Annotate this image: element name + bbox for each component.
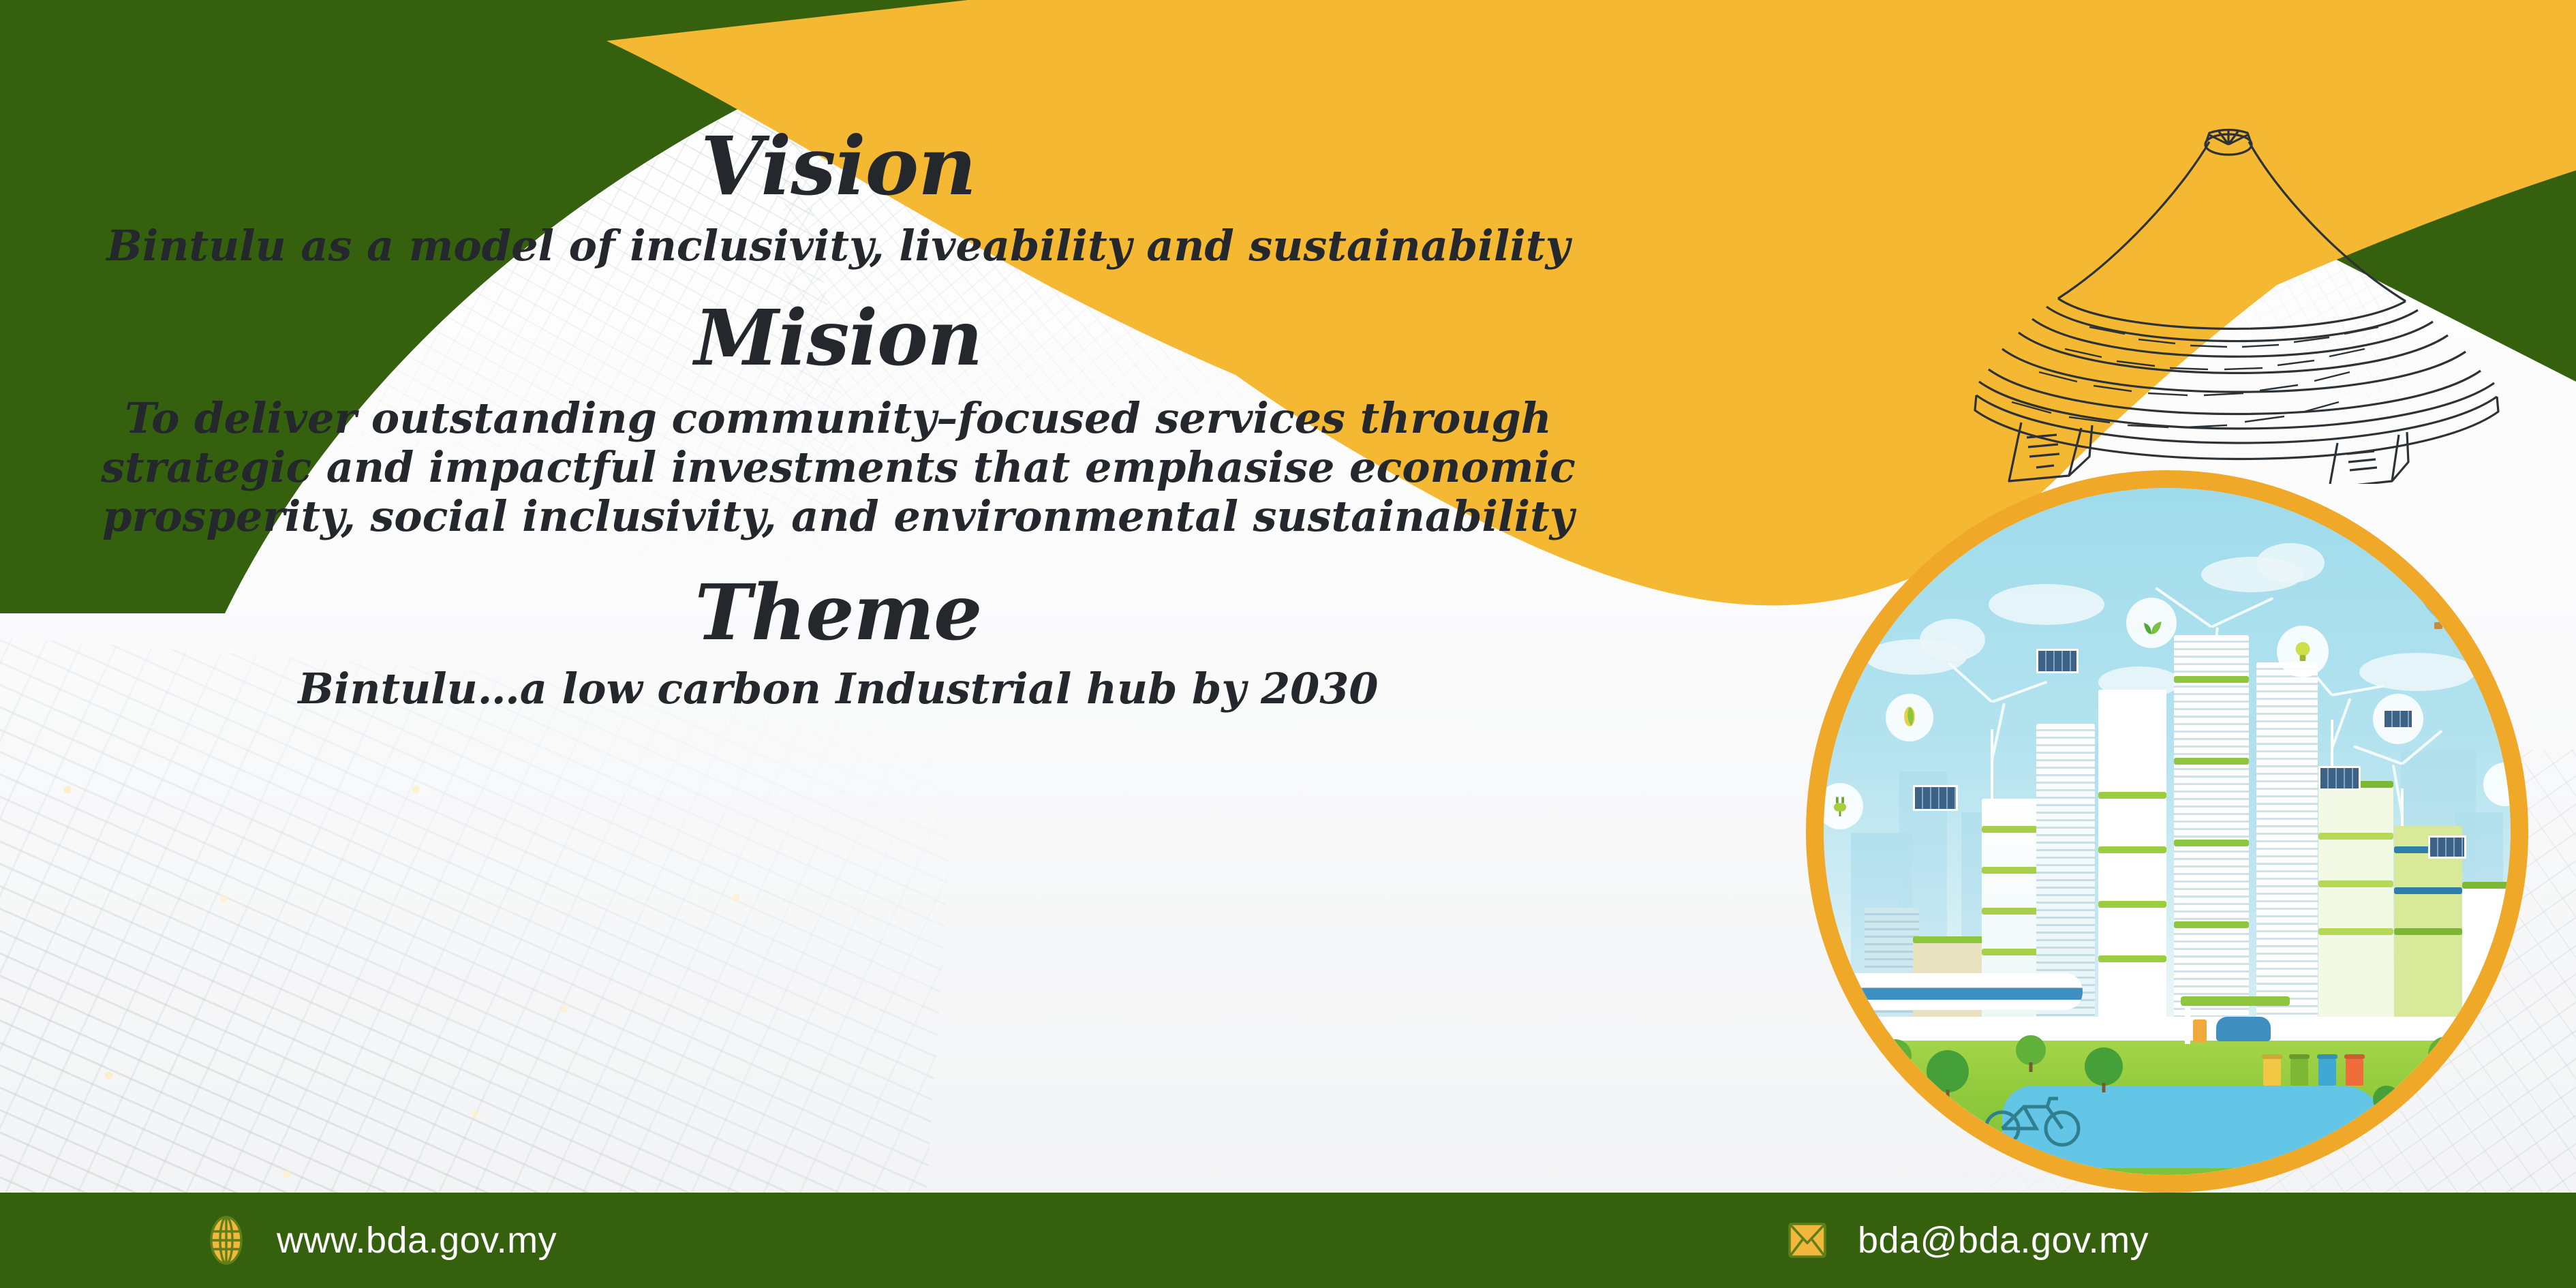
recycling-bin: [2318, 1058, 2336, 1086]
window-lights: [0, 647, 975, 1288]
email-label: bda@bda.gov.my: [1858, 1219, 2149, 1261]
text-content: Vision Bintulu as a model of inclusivity…: [0, 123, 1676, 714]
mission-body-line-1: To deliver outstanding community–focused…: [0, 394, 1676, 443]
eco-city-illustration: [1824, 488, 2511, 1175]
hot-air-balloon-icon: [2414, 570, 2462, 636]
solar-panel-icon: [1913, 785, 1958, 811]
monorail-train: [1837, 973, 2083, 1010]
recycling-bin: [2290, 1058, 2308, 1086]
vision-body: Bintulu as a model of inclusivity, livea…: [0, 221, 1676, 271]
solar-panel-icon: [2428, 835, 2466, 859]
theme-body: Bintulu…a low carbon Industrial hub by 2…: [0, 664, 1676, 714]
footer-website[interactable]: www.bda.gov.my: [204, 1193, 557, 1288]
banner-root: Vision Bintulu as a model of inclusivity…: [0, 0, 2576, 1288]
ev-charging-station: [2181, 996, 2290, 1044]
globe-icon: [204, 1215, 248, 1266]
solar-panel-icon: [2318, 766, 2361, 791]
mission-body: To deliver outstanding community–focused…: [0, 394, 1676, 541]
theme-heading: Theme: [0, 572, 1676, 655]
footer-bar: www.bda.gov.my bda@bda.gov.my: [0, 1193, 2576, 1288]
recycling-bin: [2346, 1058, 2363, 1086]
bicycle-icon: [1982, 1089, 2084, 1148]
glass-facade-texture: [0, 633, 961, 1288]
elevated-road: [1824, 1017, 2511, 1041]
bulb-icon-bubble: [2277, 626, 2329, 677]
envelope-icon: [1785, 1215, 1829, 1266]
corn-icon-bubble: [1886, 694, 1933, 741]
vision-heading: Vision: [0, 123, 1676, 209]
recycling-bin: [2263, 1058, 2281, 1086]
eco-city-circle: [1806, 470, 2528, 1193]
solar-panel-icon: [2036, 649, 2079, 673]
leaf-icon-bubble: [2126, 598, 2177, 648]
mission-heading: Mision: [0, 298, 1676, 380]
website-label: www.bda.gov.my: [277, 1219, 557, 1261]
mission-body-line-2: strategic and impactful investments that…: [0, 443, 1676, 492]
pavilion-line-drawing: [1956, 102, 2569, 484]
footer-email[interactable]: bda@bda.gov.my: [1785, 1193, 2149, 1288]
mission-body-line-3: prosperity, social inclusivity, and envi…: [0, 492, 1676, 541]
